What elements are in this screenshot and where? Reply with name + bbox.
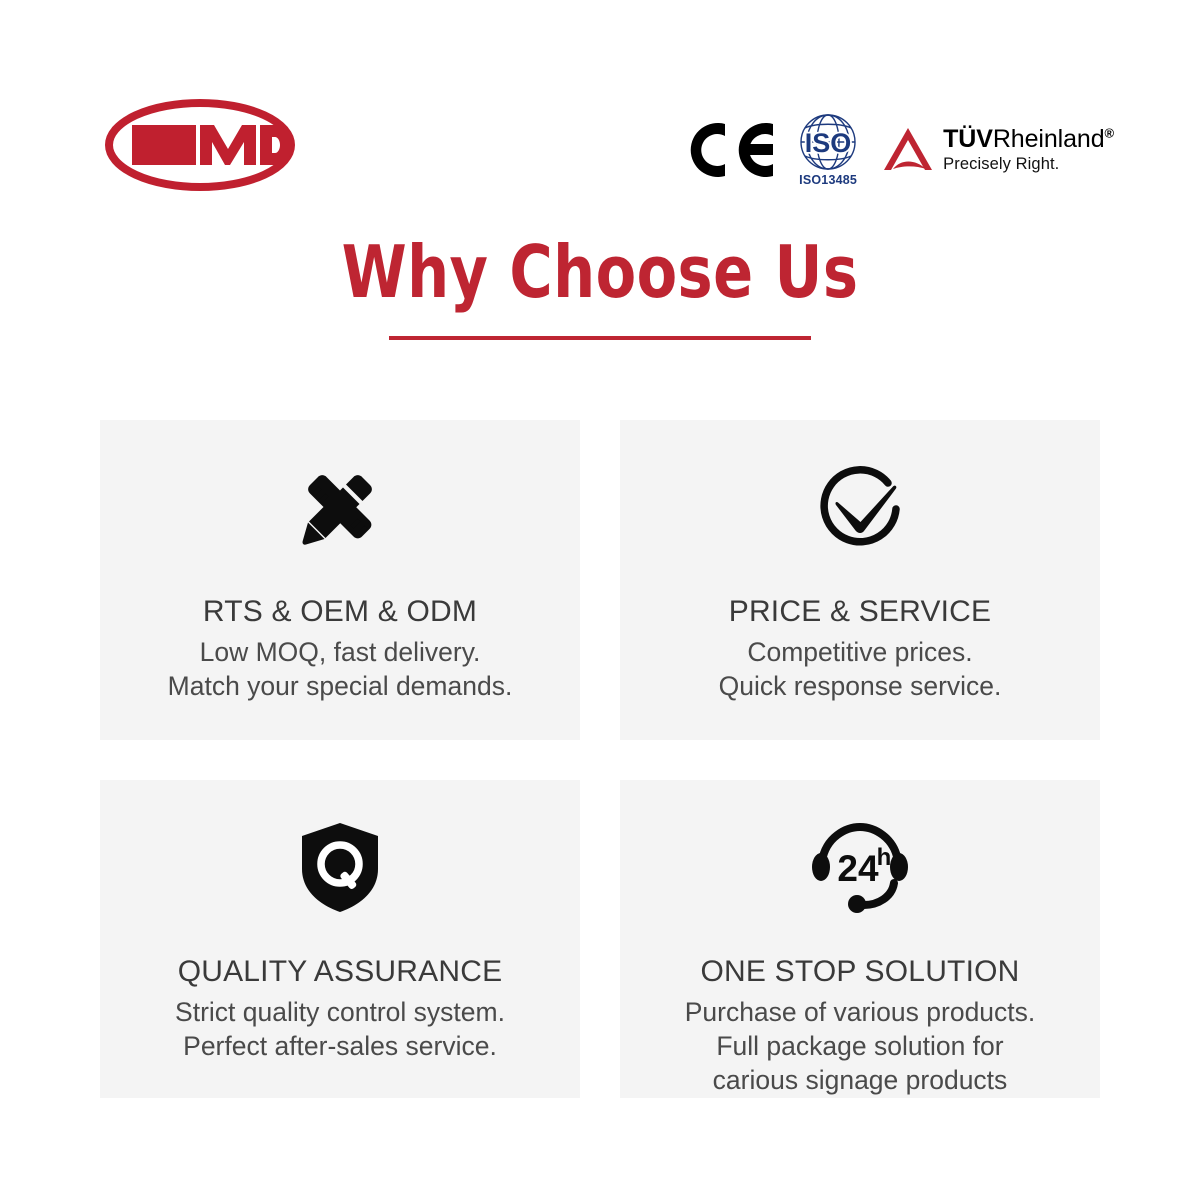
feature-card-line: Full package solution for bbox=[685, 1029, 1036, 1063]
feature-card-line: Quick response service. bbox=[719, 669, 1002, 703]
feature-card-quality-assurance: QUALITY ASSURANCE Strict quality control… bbox=[100, 780, 580, 1098]
feature-card-line: Competitive prices. bbox=[719, 635, 1002, 669]
certification-marks: ISO ISO13485 TÜVRheinland® Precisely Rig… bbox=[689, 106, 1114, 192]
feature-card-line: Low MOQ, fast delivery. bbox=[168, 635, 513, 669]
feature-card-one-stop-solution: 24 h ONE STOP SOLUTION Purchase of vario… bbox=[620, 780, 1100, 1098]
feature-card-line: Purchase of various products. bbox=[685, 995, 1036, 1029]
pencil-ruler-icon bbox=[292, 448, 388, 566]
title-block: Why Choose Us bbox=[0, 236, 1200, 340]
tuv-rheinland-mark: TÜVRheinland® Precisely Right. bbox=[881, 125, 1114, 173]
tuv-tagline: Precisely Right. bbox=[943, 155, 1114, 173]
title-underline-rule bbox=[389, 336, 811, 340]
feature-card-title: PRICE & SERVICE bbox=[729, 595, 992, 629]
tuv-triangle-icon bbox=[881, 125, 935, 173]
page-header: ISO ISO13485 TÜVRheinland® Precisely Rig… bbox=[0, 0, 1200, 230]
tuv-wordmark: TÜVRheinland® bbox=[943, 125, 1114, 153]
feature-card-line: Match your special demands. bbox=[168, 669, 513, 703]
feature-card-description: Strict quality control system. Perfect a… bbox=[161, 995, 519, 1063]
feature-card-description: Competitive prices. Quick response servi… bbox=[705, 635, 1016, 703]
svg-text:h: h bbox=[877, 844, 892, 871]
feature-card-price-service: PRICE & SERVICE Competitive prices. Quic… bbox=[620, 420, 1100, 740]
iso-mark: ISO ISO13485 bbox=[797, 111, 859, 187]
page-title: Why Choose Us bbox=[108, 236, 1092, 308]
feature-card-title: ONE STOP SOLUTION bbox=[700, 955, 1019, 989]
feature-card-line: Perfect after-sales service. bbox=[175, 1029, 505, 1063]
feature-cards-grid: RTS & OEM & ODM Low MOQ, fast delivery. … bbox=[100, 420, 1100, 1098]
svg-text:ISO: ISO bbox=[805, 128, 852, 158]
ce-mark-icon bbox=[689, 118, 775, 180]
feature-card-rts-oem-odm: RTS & OEM & ODM Low MOQ, fast delivery. … bbox=[100, 420, 580, 740]
tuv-wordmark-rest: Rheinland bbox=[993, 125, 1105, 153]
feature-card-description: Low MOQ, fast delivery. Match your speci… bbox=[154, 635, 527, 703]
feature-card-description: Purchase of various products. Full packa… bbox=[671, 995, 1050, 1098]
zmd-logo bbox=[104, 99, 296, 191]
check-circle-icon bbox=[812, 448, 908, 566]
shield-q-icon bbox=[294, 808, 386, 926]
feature-card-title: RTS & OEM & ODM bbox=[203, 595, 477, 629]
iso-caption: ISO13485 bbox=[799, 174, 857, 187]
feature-card-title: QUALITY ASSURANCE bbox=[178, 955, 503, 989]
registered-trademark-icon: ® bbox=[1105, 125, 1114, 140]
svg-text:24: 24 bbox=[837, 848, 879, 889]
tuv-wordmark-bold: TÜV bbox=[943, 125, 993, 153]
headset-24h-icon: 24 h bbox=[808, 808, 912, 926]
feature-card-line: Strict quality control system. bbox=[175, 995, 505, 1029]
feature-card-line: carious signage products bbox=[685, 1063, 1036, 1097]
